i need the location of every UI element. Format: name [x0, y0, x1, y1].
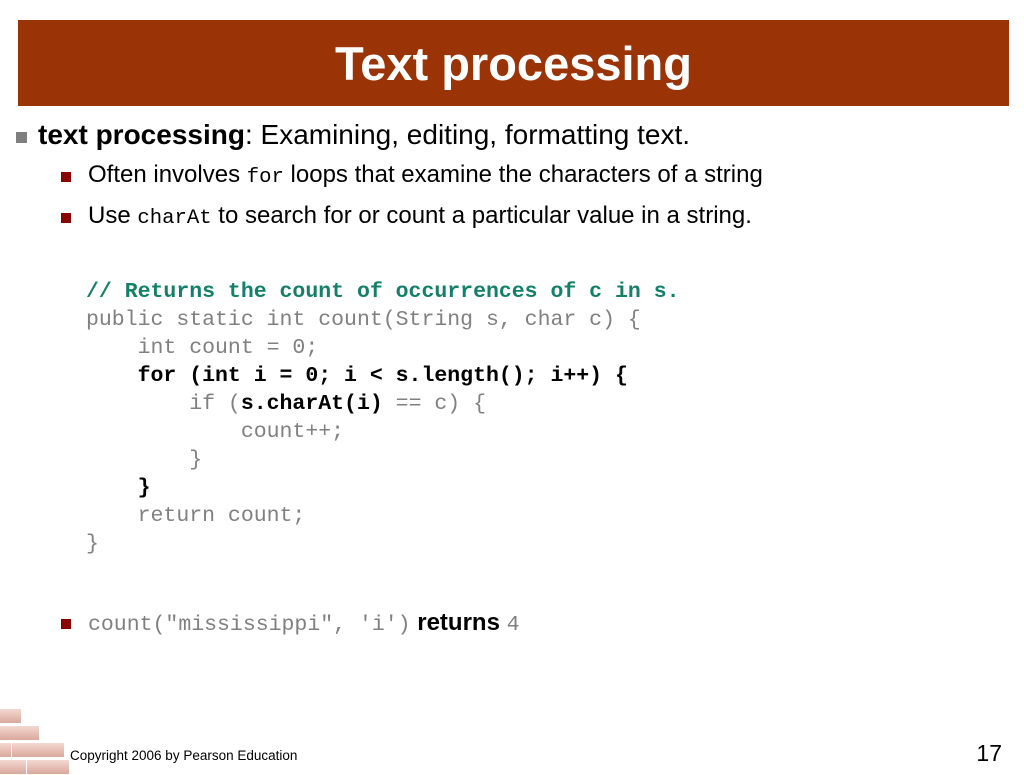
code-line: // Returns the count of occurrences of c… [86, 278, 680, 306]
code-text: } [86, 448, 202, 472]
bullet-level2-for-loops: Often involves for loops that examine th… [0, 156, 1024, 197]
code-text: public static int count(String s, char c… [86, 308, 641, 332]
brick [0, 725, 40, 741]
bullet-level1-term: text processing [38, 119, 245, 150]
bullet-square-icon [61, 619, 71, 629]
bullet-text-pre: Often involves [88, 161, 247, 188]
code-line: } [86, 530, 680, 558]
bullet-square-icon [61, 213, 71, 223]
code-text: return count; [86, 504, 305, 528]
page-number: 17 [976, 740, 1002, 767]
code-text: if ( [86, 392, 241, 416]
inline-code-for: for [247, 166, 284, 189]
code-line: count++; [86, 418, 680, 446]
code-line: public static int count(String s, char c… [86, 306, 680, 334]
brick [11, 742, 65, 758]
bullet-square-icon [16, 132, 27, 143]
code-line: } [86, 474, 680, 502]
bullet-text-pre: Use [88, 202, 137, 229]
brick [0, 708, 22, 724]
code-line: if (s.charAt(i) == c) { [86, 390, 680, 418]
slide-title-bar: Text processing [18, 20, 1009, 106]
page-title: Text processing [335, 40, 692, 87]
code-text: } [86, 532, 99, 556]
bullet-level1-rest: : Examining, editing, formatting text. [245, 119, 690, 150]
code-keyword-span: s.charAt(i) [241, 392, 383, 416]
code-comment: // Returns the count of occurrences of c… [86, 280, 680, 304]
code-line: for (int i = 0; i < s.length(); i++) { [86, 362, 680, 390]
code-keyword-span: } [86, 476, 151, 500]
code-line: return count; [86, 502, 680, 530]
inline-code-charat: charAt [137, 207, 211, 230]
code-line: int count = 0; [86, 334, 680, 362]
bullet-level1: text processing: Examining, editing, for… [0, 118, 1024, 152]
code-line: } [86, 446, 680, 474]
code-text: int count = 0; [86, 336, 318, 360]
brick [26, 759, 70, 775]
bullet-square-icon [61, 172, 71, 182]
example-result: 4 [507, 613, 520, 637]
example-result-line: count("mississippi", 'i') returns 4 [0, 606, 1024, 642]
bullet-text-post: to search for or count a particular valu… [212, 202, 752, 229]
code-block: // Returns the count of occurrences of c… [86, 278, 680, 558]
example-call: count("mississippi", 'i') [88, 613, 411, 637]
code-text: == c) { [383, 392, 486, 416]
slide-content: text processing: Examining, editing, for… [0, 118, 1024, 238]
code-text: count++; [86, 420, 344, 444]
bullet-text-post: loops that examine the characters of a s… [284, 161, 763, 188]
code-keyword-span: for (int i = 0; i < s.length(); i++) { [86, 364, 628, 388]
copyright-text: Copyright 2006 by Pearson Education [70, 748, 297, 763]
example-verb: returns [411, 609, 507, 636]
bullet-level2-charat: Use charAt to search for or count a part… [0, 197, 1024, 238]
